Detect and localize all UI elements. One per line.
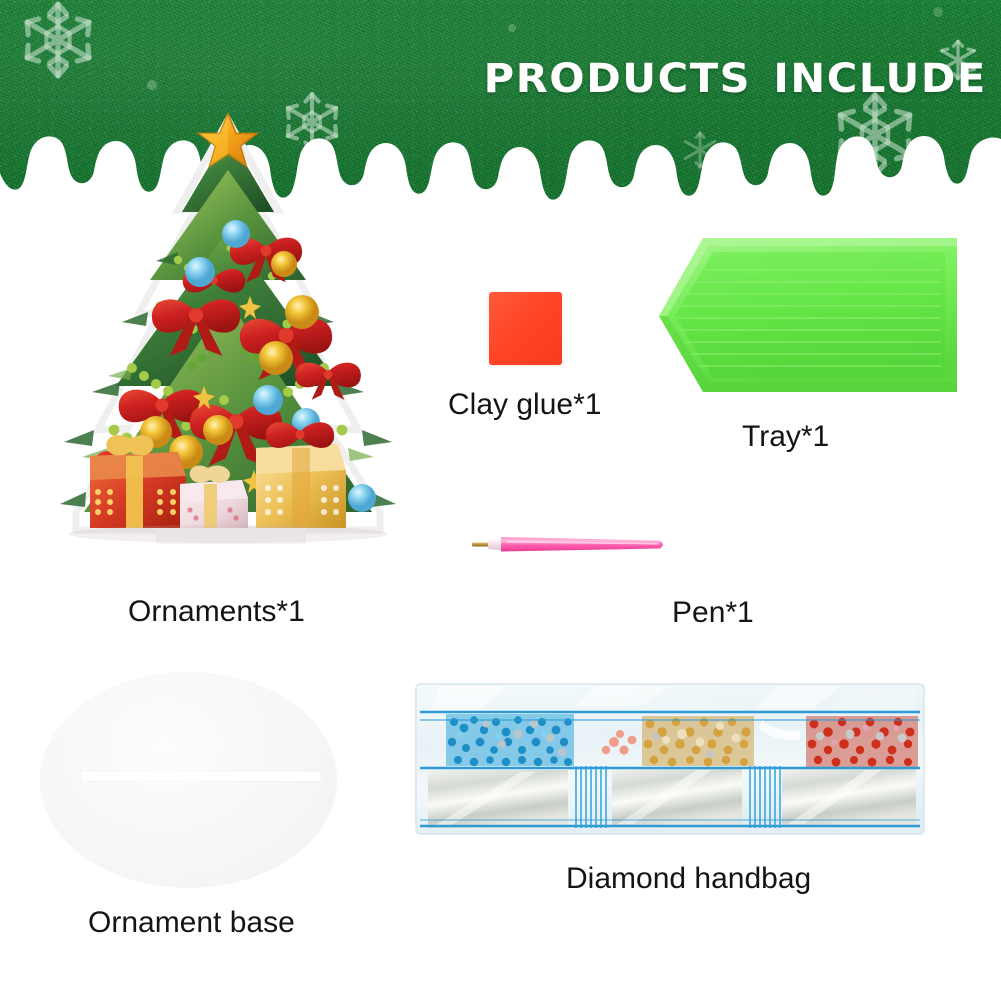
label-tray: Tray*1 — [742, 420, 829, 454]
label-diamond-handbag: Diamond handbag — [566, 862, 811, 896]
gold-bauble — [203, 415, 233, 445]
label-clay-glue: Clay glue*1 — [448, 388, 601, 422]
gift-box-gold — [256, 422, 346, 528]
product-image-pen — [470, 528, 670, 568]
product-image-ornaments — [28, 100, 428, 580]
rhinestones-blue — [446, 714, 574, 766]
snow-dot-icon — [933, 7, 943, 17]
product-infographic: Products include — [0, 0, 1001, 1001]
blue-bauble — [222, 220, 250, 248]
ornament-base-slot — [81, 772, 321, 781]
label-pen: Pen*1 — [672, 596, 754, 630]
diamond-pen-icon — [470, 528, 670, 568]
snow-dot-icon — [508, 24, 516, 32]
blue-bauble — [253, 385, 283, 415]
pen-ferrule — [488, 538, 502, 551]
pen-metal-tip — [472, 543, 490, 547]
label-ornament-base: Ornament base — [88, 906, 295, 940]
gold-bauble — [271, 251, 297, 277]
snow-dot-icon — [147, 80, 157, 90]
product-image-tray — [655, 230, 965, 400]
diamond-tray-icon — [655, 230, 965, 400]
zip-bag-icon — [410, 676, 930, 842]
christmas-tree-icon — [28, 100, 428, 580]
gold-bauble — [259, 341, 293, 375]
product-image-diamond-handbag — [410, 676, 930, 842]
product-image-clay-glue — [489, 292, 562, 365]
blue-bauble — [185, 257, 215, 287]
blue-bauble — [348, 484, 376, 512]
label-ornaments: Ornaments*1 — [128, 595, 305, 629]
rhinestones-red — [806, 716, 918, 768]
gold-bauble — [285, 295, 319, 329]
